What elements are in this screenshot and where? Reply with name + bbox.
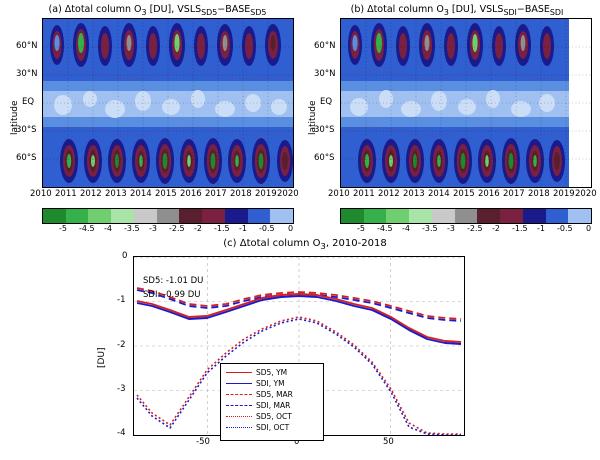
- panel-a-plot-area: [42, 18, 294, 188]
- panel-b-xtick-4: 2014: [428, 189, 450, 199]
- colorbar-a-swatch-0: [43, 209, 66, 223]
- legend-swatch-sd5-mar: [226, 394, 252, 395]
- legend-label-sd5-oct: SD5, OCT: [256, 412, 292, 421]
- colorbar-b: [340, 208, 592, 224]
- panel-c-annotation-sdi: SDI: -0.99 DU: [143, 290, 200, 300]
- panel-a-title: (a) Δtotal column O3 [DU], VSLSSD5−BASES…: [20, 4, 295, 17]
- panel-b-xtick-0: 2010: [328, 189, 350, 199]
- panel-a-xtick-6: 2016: [180, 189, 202, 199]
- panel-a-ytick-2: EQ: [22, 97, 34, 107]
- legend-item-2: SD5, MAR: [226, 389, 318, 400]
- colorbar-b-swatch-0: [341, 209, 364, 223]
- panel-a-xtick-10: 2020: [277, 189, 299, 199]
- panel-b-plot-area: [340, 18, 592, 188]
- colorbar-a-swatch-2: [88, 209, 111, 223]
- legend-swatch-sd5-oct: [226, 416, 252, 417]
- panel-c-title-rest: , 2010-2018: [326, 238, 387, 249]
- legend-label-sd5-ym: SD5, YM: [256, 368, 287, 377]
- colorbar-b-swatch-8: [523, 209, 546, 223]
- legend-swatch-sdi-mar: [226, 405, 252, 406]
- panel-b-heatmap: [341, 19, 591, 187]
- panel-a: (a) Δtotal column O3 [DU], VSLSSD5−BASES…: [0, 0, 300, 215]
- panel-b-title-sub3: SDI: [550, 8, 563, 17]
- legend-item-1: SDI, YM: [226, 378, 318, 389]
- colorbar-a-tick-6: -2: [194, 224, 202, 233]
- colorbar-a-swatch-4: [134, 209, 157, 223]
- panel-a-title-sub2: SD5: [201, 8, 217, 17]
- panel-c-xtick-0: -50: [196, 437, 210, 447]
- panel-b-xtick-5: 2015: [453, 189, 475, 199]
- panel-a-xtick-7: 2017: [205, 189, 227, 199]
- legend-swatch-sd5-ym: [226, 372, 252, 373]
- panel-c-ytick-1: -1: [117, 295, 125, 305]
- legend-label-sdi-ym: SDI, YM: [256, 379, 285, 388]
- colorbar-a-tick-1: -4.5: [79, 224, 95, 233]
- panel-c-ytick-3: -3: [117, 384, 125, 394]
- panel-a-title-mid: [DU], VSLS: [147, 4, 202, 15]
- panel-b-xtick-1: 2011: [353, 189, 375, 199]
- colorbar-a-swatch-9: [248, 209, 271, 223]
- legend-swatch-sdi-oct: [226, 427, 252, 428]
- colorbar-b-tick-3: -3.5: [422, 224, 438, 233]
- colorbar-a-tick-10: 0: [288, 224, 293, 233]
- panel-b-xtick-3: 2013: [403, 189, 425, 199]
- panel-b-ytick-3: 30°S: [314, 125, 334, 135]
- legend-item-0: SD5, YM: [226, 367, 318, 378]
- colorbar-b-tick-0: -5: [357, 224, 365, 233]
- colorbar-b-swatch-5: [455, 209, 478, 223]
- panel-b-title-mid: [DU], VSLS: [449, 4, 504, 15]
- colorbar-b-tick-8: -1: [537, 224, 545, 233]
- colorbar-a-tick-2: -4: [104, 224, 112, 233]
- colorbar-b-swatch-4: [432, 209, 455, 223]
- panel-a-xtick-3: 2013: [105, 189, 127, 199]
- panel-b-xtick-8: 2018: [528, 189, 550, 199]
- panel-a-title-main: (a) Δtotal column O: [49, 4, 142, 15]
- panel-a-xtick-9: 2019: [255, 189, 277, 199]
- panel-a-xtick-0: 2010: [30, 189, 52, 199]
- panel-a-xtick-1: 2011: [55, 189, 77, 199]
- colorbar-b-swatch-1: [364, 209, 387, 223]
- panel-b-xtick-2: 2012: [378, 189, 400, 199]
- colorbar-a: [42, 208, 294, 224]
- panel-c-xtick-2: 50: [383, 437, 394, 447]
- colorbar-a-swatch-7: [202, 209, 225, 223]
- colorbar-b-swatch-9: [546, 209, 569, 223]
- colorbar-b-tick-1: -4.5: [377, 224, 393, 233]
- colorbar-a-swatch-10: [270, 209, 293, 223]
- panel-b-title: (b) Δtotal column O3 [DU], VSLSSDI−BASES…: [318, 4, 596, 17]
- colorbar-a-tick-0: -5: [59, 224, 67, 233]
- colorbar-b-tick-7: -1.5: [512, 224, 528, 233]
- panel-b-xtick-6: 2016: [478, 189, 500, 199]
- panel-a-title-minus: −BASE: [217, 4, 250, 15]
- panel-c-title: (c) Δtotal column O3, 2010-2018: [95, 238, 515, 251]
- legend-item-5: SDI, OCT: [226, 422, 318, 433]
- panel-b-xtick-7: 2017: [503, 189, 525, 199]
- colorbar-a-tick-4: -3: [149, 224, 157, 233]
- legend-label-sdi-oct: SDI, OCT: [256, 423, 289, 432]
- panel-a-ytick-0: 60°N: [16, 41, 37, 51]
- panel-c-ylabel: [DU]: [97, 347, 107, 368]
- colorbar-a-swatch-5: [157, 209, 180, 223]
- panel-b-ytick-0: 60°N: [314, 41, 335, 51]
- panel-b-xtick-10: 2020: [575, 189, 597, 199]
- legend-swatch-sdi-ym: [226, 383, 252, 384]
- panel-c-ytick-2: -2: [117, 340, 125, 350]
- colorbar-b-tick-10: 0: [586, 224, 591, 233]
- panel-a-title-sub3: SD5: [250, 8, 266, 17]
- legend-label-sd5-mar: SD5, MAR: [256, 390, 293, 399]
- panel-b-title-sub2: SDI: [503, 8, 516, 17]
- colorbar-b-swatch-6: [477, 209, 500, 223]
- panel-a-xtick-4: 2014: [130, 189, 152, 199]
- panel-a-ytick-3: 30°S: [16, 125, 36, 135]
- panel-b-title-main: (b) Δtotal column O: [351, 4, 444, 15]
- colorbar-a-swatch-1: [66, 209, 89, 223]
- colorbar-a-tick-5: -2.5: [169, 224, 185, 233]
- panel-c: (c) Δtotal column O3, 2010-2018 [DU]: [95, 238, 515, 460]
- panel-c-title-main: (c) Δtotal column O: [223, 238, 320, 249]
- panel-b-ytick-4: 60°S: [314, 153, 334, 163]
- colorbar-b-swatch-7: [500, 209, 523, 223]
- legend-label-sdi-mar: SDI, MAR: [256, 401, 290, 410]
- colorbar-b-swatch-10: [568, 209, 591, 223]
- colorbar-a-swatch-8: [225, 209, 248, 223]
- panel-b-ytick-2: EQ: [320, 97, 332, 107]
- panel-b-title-minus: −BASE: [517, 4, 550, 15]
- colorbar-b-tick-6: -2: [492, 224, 500, 233]
- colorbar-a-swatch-3: [111, 209, 134, 223]
- legend-item-4: SD5, OCT: [226, 411, 318, 422]
- panel-b: (b) Δtotal column O3 [DU], VSLSSDI−BASES…: [300, 0, 600, 215]
- colorbar-a-swatch-6: [179, 209, 202, 223]
- panel-c-legend: SD5, YM SDI, YM SD5, MAR SDI, MAR SD5, O…: [220, 363, 324, 441]
- panel-c-ytick-4: -4: [117, 428, 125, 438]
- panel-a-ytick-1: 30°N: [16, 69, 37, 79]
- colorbar-b-tick-5: -2.5: [467, 224, 483, 233]
- panel-a-xtick-2: 2012: [80, 189, 102, 199]
- colorbar-a-tick-9: -0.5: [259, 224, 275, 233]
- panel-b-ytick-1: 30°N: [314, 69, 335, 79]
- panel-b-xtick-9: 2019: [553, 189, 575, 199]
- colorbar-a-tick-3: -3.5: [124, 224, 140, 233]
- colorbar-a-tick-8: -1: [239, 224, 247, 233]
- panel-a-ytick-4: 60°S: [16, 153, 36, 163]
- colorbar-a-tick-7: -1.5: [214, 224, 230, 233]
- panel-c-ytick-0: 0: [122, 251, 127, 261]
- legend-item-3: SDI, MAR: [226, 400, 318, 411]
- panel-a-heatmap: [43, 19, 293, 187]
- colorbar-b-tick-2: -4: [402, 224, 410, 233]
- colorbar-b-tick-9: -0.5: [557, 224, 573, 233]
- panel-c-annotation-sd5: SD5: -1.01 DU: [143, 276, 203, 286]
- panel-a-xtick-8: 2018: [230, 189, 252, 199]
- colorbar-b-tick-4: -3: [447, 224, 455, 233]
- colorbar-b-swatch-2: [386, 209, 409, 223]
- panel-a-xtick-5: 2015: [155, 189, 177, 199]
- colorbar-b-swatch-3: [409, 209, 432, 223]
